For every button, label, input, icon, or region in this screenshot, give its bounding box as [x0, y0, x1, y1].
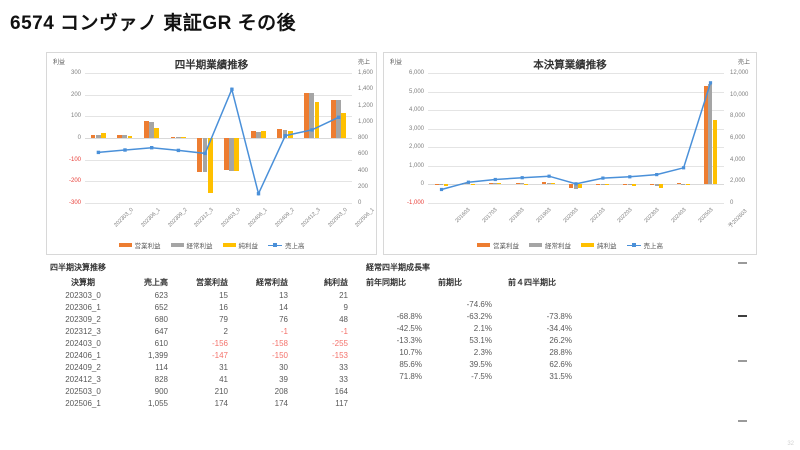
y2-axis-tick: 4,000 — [730, 157, 764, 163]
cell-net: 164 — [296, 385, 356, 397]
legend-color-swatch — [581, 243, 594, 247]
x-axis-tick: 202403_0 — [220, 207, 242, 229]
col-header-four-q: 前４四半期比 — [508, 275, 588, 289]
cell-operating: -156 — [176, 337, 236, 349]
x-axis-tick: 202003 — [562, 207, 579, 224]
cell-qoq: -7.5% — [438, 370, 508, 382]
clipped-text-mark — [738, 420, 747, 422]
y-axis-tick: 0 — [51, 135, 81, 141]
cell-qoq: 39.5% — [438, 358, 508, 370]
x-axis-tick: 201803 — [509, 207, 526, 224]
table-row: 202409_2114313033 — [50, 361, 356, 373]
growth-rate-caption: 経常四半期成長率 — [366, 262, 588, 275]
x-axis-tick: 202409_2 — [274, 207, 296, 229]
col-header-operating: 営業利益 — [176, 275, 236, 289]
chart-annual-title: 本決算業績推移 — [384, 57, 756, 72]
chart-quarterly-right-axis-label: 売上 — [358, 57, 370, 66]
legend-label: 純利益 — [239, 240, 259, 250]
cell-net: 33 — [296, 361, 356, 373]
y2-axis-tick: 12,000 — [730, 70, 764, 76]
clipped-text-mark — [738, 315, 747, 317]
cell-ordinary: 76 — [236, 313, 296, 325]
x-axis-tick: 202303_0 — [114, 207, 136, 229]
table-row: 202506_11,055174174117 — [50, 397, 356, 409]
quarterly-results-table: 四半期決算推移 決算期 売上高 営業利益 経常利益 純利益 202303_062… — [50, 262, 356, 409]
legend-item-operating-profit[interactable]: 営業利益 — [119, 240, 161, 250]
sales-line-series — [428, 73, 724, 203]
cell-sales: 1,399 — [116, 349, 176, 361]
y-axis-tick: 6,000 — [394, 70, 424, 76]
cell-operating: 31 — [176, 361, 236, 373]
chart-quarterly-performance[interactable]: 四半期業績推移 利益 売上 3002001000-100-200-3001,60… — [46, 52, 377, 255]
cell-yoy: 10.7% — [366, 346, 438, 358]
cell-qoq: 2.1% — [438, 322, 508, 334]
cell-period: 202403_0 — [50, 337, 116, 349]
cell-yoy: -42.5% — [366, 322, 438, 334]
cell-operating: 41 — [176, 373, 236, 385]
y-axis-tick: -300 — [51, 200, 81, 206]
cell-ordinary: -1 — [236, 325, 296, 337]
legend-label: 経常利益 — [545, 240, 571, 250]
y2-axis-tick: 8,000 — [730, 113, 764, 119]
cell-net: -255 — [296, 337, 356, 349]
cell-four-q: 26.2% — [508, 334, 588, 346]
cell-four-q — [508, 298, 588, 310]
cell-qoq: 2.3% — [438, 346, 508, 358]
cell-yoy: -68.8% — [366, 310, 438, 322]
cell-period: 202506_1 — [50, 397, 116, 409]
cell-net: 48 — [296, 313, 356, 325]
chart-quarterly-title: 四半期業績推移 — [47, 57, 376, 72]
legend-item-net-profit[interactable]: 純利益 — [581, 240, 617, 250]
cell-period: 202412_3 — [50, 373, 116, 385]
x-axis-tick: 201903 — [536, 207, 553, 224]
legend-line-swatch — [627, 242, 641, 248]
cell-sales: 652 — [116, 301, 176, 313]
cell-operating: -147 — [176, 349, 236, 361]
x-axis-tick: 202506_1 — [354, 207, 376, 229]
table-row: -42.5%2.1%-34.4% — [366, 322, 588, 334]
page-title: 6574 コンヴァノ 東証GR その後 — [10, 8, 296, 35]
table-row: 202412_3828413933 — [50, 373, 356, 385]
table-row: -74.6% — [366, 298, 588, 310]
cell-four-q: 28.8% — [508, 346, 588, 358]
table-row: 85.6%39.5%62.6% — [366, 358, 588, 370]
cell-operating: 16 — [176, 301, 236, 313]
y-axis-tick: 1,000 — [394, 163, 424, 169]
cell-qoq: -63.2% — [438, 310, 508, 322]
cell-net: 117 — [296, 397, 356, 409]
cell-sales: 114 — [116, 361, 176, 373]
y-axis-tick: 200 — [51, 92, 81, 98]
gridline — [85, 203, 352, 204]
cell-net: 9 — [296, 301, 356, 313]
cell-sales: 610 — [116, 337, 176, 349]
cell-ordinary: 39 — [236, 373, 296, 385]
cell-operating: 15 — [176, 289, 236, 301]
x-axis-tick: 202403 — [670, 207, 687, 224]
table-row: 202303_0623151321 — [50, 289, 356, 301]
cell-operating: 79 — [176, 313, 236, 325]
col-header-yoy: 前年同期比 — [366, 275, 438, 289]
y2-axis-tick: 2,000 — [730, 178, 764, 184]
cell-sales: 900 — [116, 385, 176, 397]
col-header-qoq: 前期比 — [438, 275, 508, 289]
cell-operating: 210 — [176, 385, 236, 397]
col-header-ordinary: 経常利益 — [236, 275, 296, 289]
chart-annual-left-axis-label: 利益 — [390, 57, 402, 66]
table-row: 202503_0900210208164 — [50, 385, 356, 397]
cell-yoy: 85.6% — [366, 358, 438, 370]
legend-item-operating-profit[interactable]: 営業利益 — [477, 240, 519, 250]
table-row: 71.8%-7.5%31.5% — [366, 370, 588, 382]
y-axis-tick: 100 — [51, 113, 81, 119]
x-axis-tick: 201703 — [482, 207, 499, 224]
y2-axis-tick: 10,000 — [730, 92, 764, 98]
cell-period: 202306_1 — [50, 301, 116, 313]
chart-annual-performance[interactable]: 本決算業績推移 利益 売上 6,0005,0004,0003,0002,0001… — [383, 52, 757, 255]
chart-quarterly-plot-area: 3002001000-100-200-3001,6001,4001,2001,0… — [85, 73, 352, 203]
cell-sales: 680 — [116, 313, 176, 325]
x-axis-tick: 202503 — [697, 207, 714, 224]
chart-annual-right-axis-label: 売上 — [738, 57, 750, 66]
legend-color-swatch — [223, 243, 236, 247]
cell-sales: 828 — [116, 373, 176, 385]
legend-item-sales[interactable]: 売上高 — [627, 240, 664, 250]
x-axis-tick: 予202603 — [726, 207, 749, 230]
x-axis-tick: 202412_3 — [300, 207, 322, 229]
cell-ordinary: 30 — [236, 361, 296, 373]
legend-item-ordinary-profit[interactable]: 経常利益 — [171, 240, 213, 250]
x-axis-tick: 202303 — [643, 207, 660, 224]
cell-ordinary: 208 — [236, 385, 296, 397]
cell-ordinary: 14 — [236, 301, 296, 313]
legend-color-swatch — [477, 243, 490, 247]
x-axis-tick: 202309_2 — [167, 207, 189, 229]
legend-color-swatch — [529, 243, 542, 247]
cell-operating: 2 — [176, 325, 236, 337]
table-row: 202306_165216149 — [50, 301, 356, 313]
x-axis-tick: 201603 — [455, 207, 472, 224]
legend-item-ordinary-profit[interactable]: 経常利益 — [529, 240, 571, 250]
cell-ordinary: 174 — [236, 397, 296, 409]
clipped-text-mark — [738, 360, 747, 362]
chart-annual-plot-area: 6,0005,0004,0003,0002,0001,0000-1,00012,… — [428, 73, 724, 203]
sales-line-series — [85, 73, 352, 203]
cell-yoy — [366, 298, 438, 310]
cell-period: 202309_2 — [50, 313, 116, 325]
legend-item-net-profit[interactable]: 純利益 — [223, 240, 259, 250]
x-axis-tick: 202406_1 — [247, 207, 269, 229]
cell-net: 33 — [296, 373, 356, 385]
y-axis-tick: 5,000 — [394, 89, 424, 95]
cell-net: 21 — [296, 289, 356, 301]
x-axis-tick: 202503_0 — [327, 207, 349, 229]
page-number: 32 — [787, 441, 794, 447]
growth-rate-table: 経常四半期成長率 前年同期比 前期比 前４四半期比 -74.6%-68.8%-6… — [366, 262, 588, 382]
cell-period: 202503_0 — [50, 385, 116, 397]
gridline — [428, 203, 724, 204]
legend-item-sales[interactable]: 売上高 — [268, 240, 305, 250]
cell-four-q: -34.4% — [508, 322, 588, 334]
cell-ordinary: 13 — [236, 289, 296, 301]
table-row: -13.3%53.1%26.2% — [366, 334, 588, 346]
table-row: 202309_2680797648 — [50, 313, 356, 325]
x-axis-tick: 202103 — [589, 207, 606, 224]
legend-line-swatch — [268, 242, 282, 248]
chart-quarterly-legend: 営業利益経常利益純利益売上高 — [47, 240, 376, 250]
clipped-text-mark — [738, 262, 747, 264]
cell-period: 202409_2 — [50, 361, 116, 373]
y-axis-tick: 0 — [394, 181, 424, 187]
y-axis-tick: 2,000 — [394, 144, 424, 150]
legend-label: 営業利益 — [493, 240, 519, 250]
cell-operating: 174 — [176, 397, 236, 409]
legend-label: 純利益 — [597, 240, 617, 250]
chart-quarterly-left-axis-label: 利益 — [53, 57, 65, 66]
cell-period: 202312_3 — [50, 325, 116, 337]
table-header-row: 決算期 売上高 営業利益 経常利益 純利益 — [50, 275, 356, 289]
cell-four-q: 31.5% — [508, 370, 588, 382]
legend-color-swatch — [119, 243, 132, 247]
cell-sales: 623 — [116, 289, 176, 301]
cell-four-q: -73.8% — [508, 310, 588, 322]
cell-yoy: 71.8% — [366, 370, 438, 382]
col-header-net: 純利益 — [296, 275, 356, 289]
table-row: 202403_0610-156-158-255 — [50, 337, 356, 349]
cell-period: 202406_1 — [50, 349, 116, 361]
cell-qoq: 53.1% — [438, 334, 508, 346]
x-axis-tick: 202312_3 — [194, 207, 216, 229]
cell-yoy: -13.3% — [366, 334, 438, 346]
cell-four-q: 62.6% — [508, 358, 588, 370]
legend-label: 売上高 — [644, 240, 664, 250]
cell-net: -1 — [296, 325, 356, 337]
y-axis-tick: 300 — [51, 70, 81, 76]
y-axis-tick: 4,000 — [394, 107, 424, 113]
legend-color-swatch — [171, 243, 184, 247]
x-axis-tick: 202203 — [616, 207, 633, 224]
legend-label: 経常利益 — [187, 240, 213, 250]
y-axis-tick: -200 — [51, 178, 81, 184]
chart-annual-legend: 営業利益経常利益純利益売上高 — [384, 240, 756, 250]
y-axis-tick: -1,000 — [394, 200, 424, 206]
quarterly-results-caption: 四半期決算推移 — [50, 262, 356, 275]
x-axis-tick: 202306_1 — [140, 207, 162, 229]
table-row: 202406_11,399-147-150-153 — [50, 349, 356, 361]
y-axis-tick: 3,000 — [394, 126, 424, 132]
col-header-sales: 売上高 — [116, 275, 176, 289]
table-header-row: 前年同期比 前期比 前４四半期比 — [366, 275, 588, 289]
table-row: 202312_36472-1-1 — [50, 325, 356, 337]
legend-label: 売上高 — [285, 240, 305, 250]
y-axis-tick: -100 — [51, 157, 81, 163]
cell-qoq: -74.6% — [438, 298, 508, 310]
cell-period: 202303_0 — [50, 289, 116, 301]
cell-sales: 1,055 — [116, 397, 176, 409]
table-row: -68.8%-63.2%-73.8% — [366, 310, 588, 322]
cell-ordinary: -158 — [236, 337, 296, 349]
legend-label: 営業利益 — [135, 240, 161, 250]
y2-axis-tick: 0 — [730, 200, 764, 206]
col-header-period: 決算期 — [50, 275, 116, 289]
cell-ordinary: -150 — [236, 349, 296, 361]
cell-sales: 647 — [116, 325, 176, 337]
y2-axis-tick: 6,000 — [730, 135, 764, 141]
table-row: 10.7%2.3%28.8% — [366, 346, 588, 358]
cell-net: -153 — [296, 349, 356, 361]
